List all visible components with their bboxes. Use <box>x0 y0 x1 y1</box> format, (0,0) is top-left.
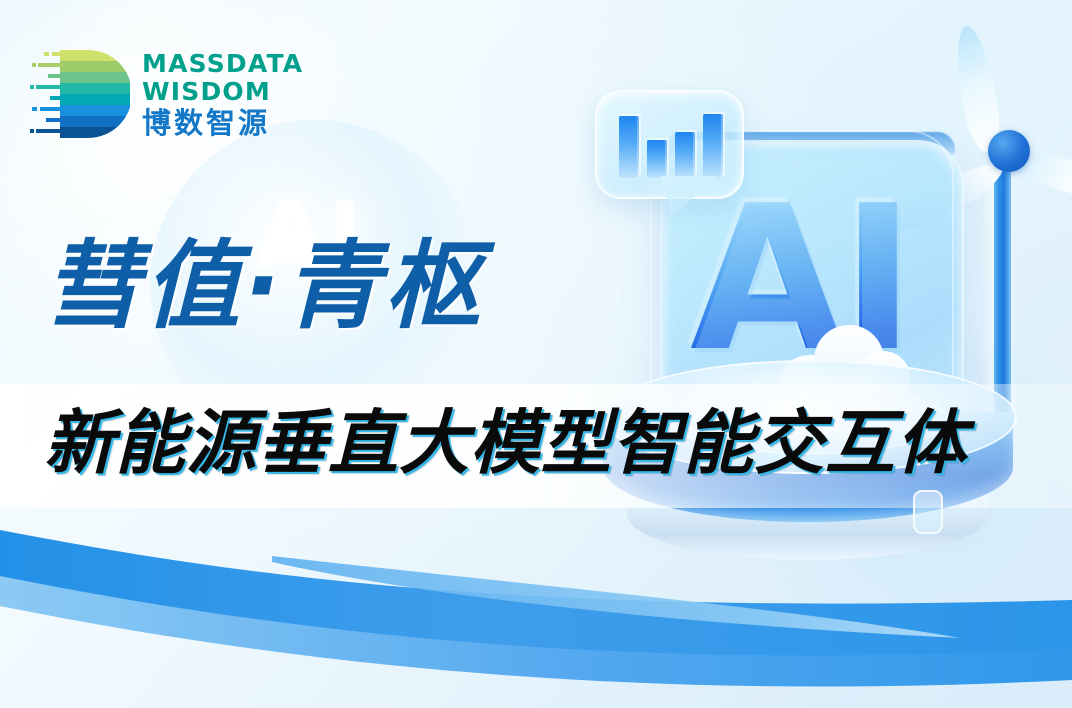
logo-english-line1: MASSDATA <box>142 51 303 76</box>
bar-chart-widget-tail-wrap <box>595 90 740 195</box>
marketing-banner: AI AI AI <box>0 0 1072 708</box>
page-subtitle: 新能源垂直大模型智能交互体 <box>44 408 967 478</box>
logo-wordmark: MASSDATA WISDOM 博数智源 <box>142 51 303 138</box>
logo-mark-icon <box>30 48 130 140</box>
logo-english-line2: WISDOM <box>142 79 303 104</box>
logo-chinese: 博数智源 <box>142 109 303 138</box>
bottom-wave-ribbons <box>0 488 1072 708</box>
brand-logo[interactable]: MASSDATA WISDOM 博数智源 <box>30 48 303 140</box>
turbine-hub <box>988 130 1030 172</box>
page-title: 彗值·青枢 <box>44 238 484 334</box>
